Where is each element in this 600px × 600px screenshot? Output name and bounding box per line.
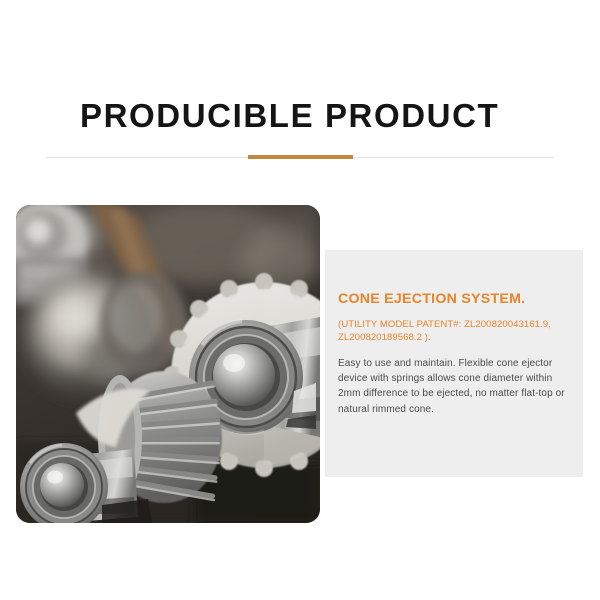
title-divider <box>46 155 554 160</box>
divider-accent-bar <box>248 155 353 159</box>
info-patent-subheading: (UTILITY MODEL PATENT#: ZL200820043161.9… <box>338 318 578 344</box>
product-photo <box>16 205 320 523</box>
info-body-text: Easy to use and maintain. Flexible cone … <box>338 356 570 417</box>
info-heading: CONE EJECTION SYSTEM. <box>338 290 578 308</box>
page-title: PRODUCIBLE PRODUCT <box>80 96 499 136</box>
product-photo-image <box>16 205 320 523</box>
